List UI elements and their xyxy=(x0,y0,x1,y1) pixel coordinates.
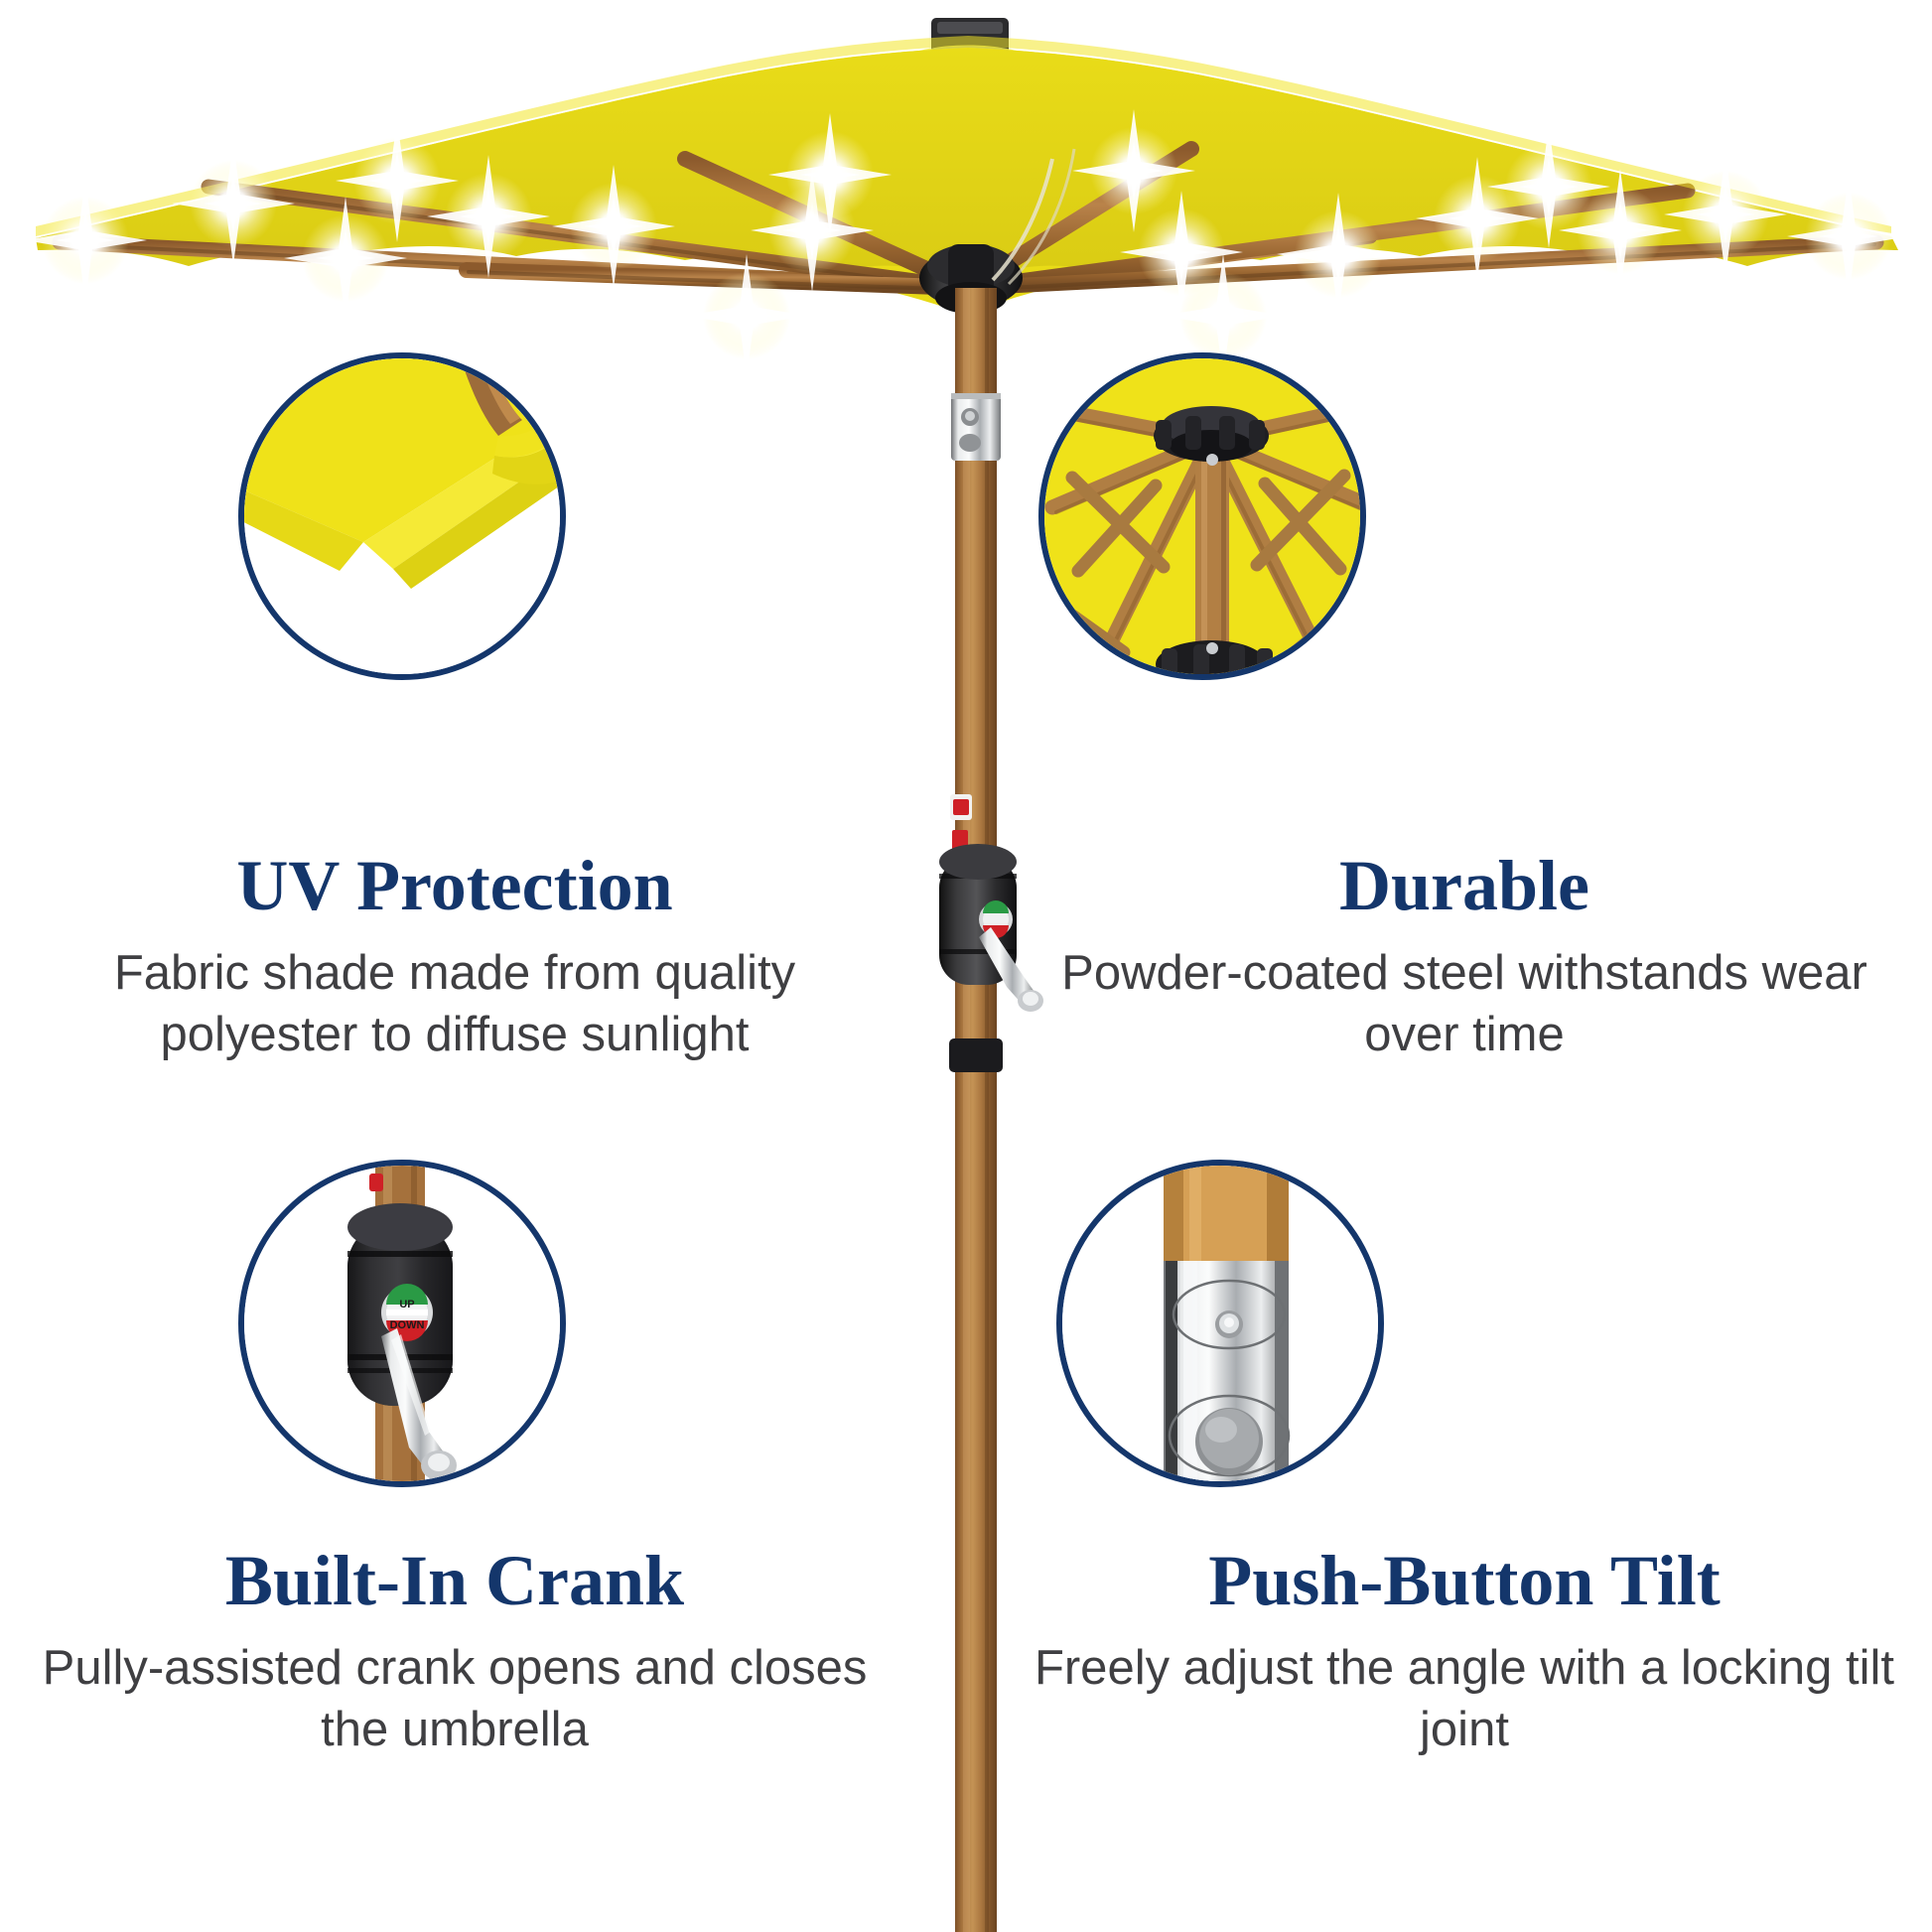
feature-description-durable: Powder-coated steel withstands wear over… xyxy=(1033,943,1896,1065)
canopy-top-surface xyxy=(36,48,1891,316)
canopy-hub xyxy=(919,244,1023,314)
callout-uv-protection xyxy=(238,352,566,680)
canopy-ribs xyxy=(60,149,1876,290)
feature-description-built-in-crank: Pully-assisted crank opens and closes th… xyxy=(38,1638,872,1760)
feature-description-push-button-tilt: Freely adjust the angle with a locking t… xyxy=(1033,1638,1896,1760)
solar-finial-icon xyxy=(931,18,1009,87)
umbrella-canopy xyxy=(24,18,1910,377)
warning-sticker xyxy=(950,794,972,852)
led-lights xyxy=(24,109,1910,377)
crank-mechanism xyxy=(939,844,1043,1012)
feature-title-uv-protection: UV Protection xyxy=(38,850,872,921)
pole-collar xyxy=(949,1038,1003,1072)
feature-title-built-in-crank: Built-In Crank xyxy=(38,1545,872,1616)
callout-durable xyxy=(1038,352,1366,680)
feature-title-durable: Durable xyxy=(1033,850,1896,921)
feature-title-push-button-tilt: Push-Button Tilt xyxy=(1033,1545,1896,1616)
canopy-gather xyxy=(894,46,1042,104)
feature-built-in-crank: Built-In Crank Pully-assisted crank open… xyxy=(38,1545,872,1760)
umbrella-pole xyxy=(939,288,1043,1932)
canopy-valance xyxy=(36,48,1898,286)
feature-uv-protection: UV Protection Fabric shade made from qua… xyxy=(38,850,872,1065)
callout-built-in-crank: UP DOWN xyxy=(238,1160,566,1487)
crank-up-label: UP xyxy=(399,1299,414,1311)
tilt-joint xyxy=(951,393,1001,461)
feature-description-uv-protection: Fabric shade made from quality polyester… xyxy=(38,943,872,1065)
infographic-canvas: UP DOWN xyxy=(0,0,1932,1932)
callout-push-button-tilt xyxy=(1056,1160,1384,1487)
feature-push-button-tilt: Push-Button Tilt Freely adjust the angle… xyxy=(1033,1545,1896,1760)
feature-durable: Durable Powder-coated steel withstands w… xyxy=(1033,850,1896,1065)
